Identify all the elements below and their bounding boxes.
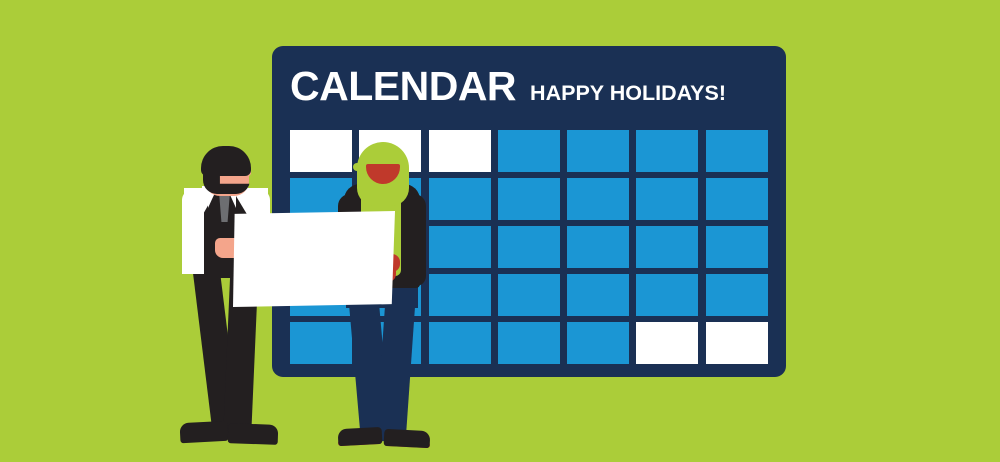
man-hair xyxy=(201,146,251,176)
calendar-day-cell[interactable] xyxy=(706,226,768,268)
man-left-shoe xyxy=(180,421,229,443)
blank-white-sign xyxy=(233,211,395,307)
calendar-day-cell[interactable] xyxy=(498,178,560,220)
calendar-day-cell[interactable] xyxy=(498,226,560,268)
calendar-day-cell[interactable] xyxy=(706,274,768,316)
calendar-title: CALENDAR xyxy=(290,66,516,107)
calendar-day-cell[interactable] xyxy=(498,274,560,316)
calendar-day-cell[interactable] xyxy=(636,274,698,316)
calendar-day-cell[interactable] xyxy=(636,322,698,364)
calendar-day-cell[interactable] xyxy=(498,322,560,364)
calendar-day-cell[interactable] xyxy=(567,322,629,364)
illustration-scene: CALENDAR HAPPY HOLIDAYS! xyxy=(0,0,1000,462)
calendar-day-cell[interactable] xyxy=(706,178,768,220)
calendar-day-cell[interactable] xyxy=(636,226,698,268)
person-left-shoe xyxy=(338,427,383,446)
person-coat-right-sleeve xyxy=(398,194,426,286)
calendar-day-cell[interactable] xyxy=(567,274,629,316)
calendar-day-cell[interactable] xyxy=(498,130,560,172)
calendar-day-cell[interactable] xyxy=(636,130,698,172)
calendar-day-cell[interactable] xyxy=(706,322,768,364)
calendar-day-cell[interactable] xyxy=(567,130,629,172)
person-right-shoe xyxy=(384,429,431,448)
person-right-leg xyxy=(376,291,416,443)
calendar-day-cell[interactable] xyxy=(636,178,698,220)
calendar-header: CALENDAR HAPPY HOLIDAYS! xyxy=(290,66,770,122)
calendar-day-cell[interactable] xyxy=(567,226,629,268)
calendar-subtitle: HAPPY HOLIDAYS! xyxy=(530,83,726,105)
man-right-shoe xyxy=(228,423,279,445)
calendar-day-cell[interactable] xyxy=(567,178,629,220)
calendar-day-cell[interactable] xyxy=(706,130,768,172)
